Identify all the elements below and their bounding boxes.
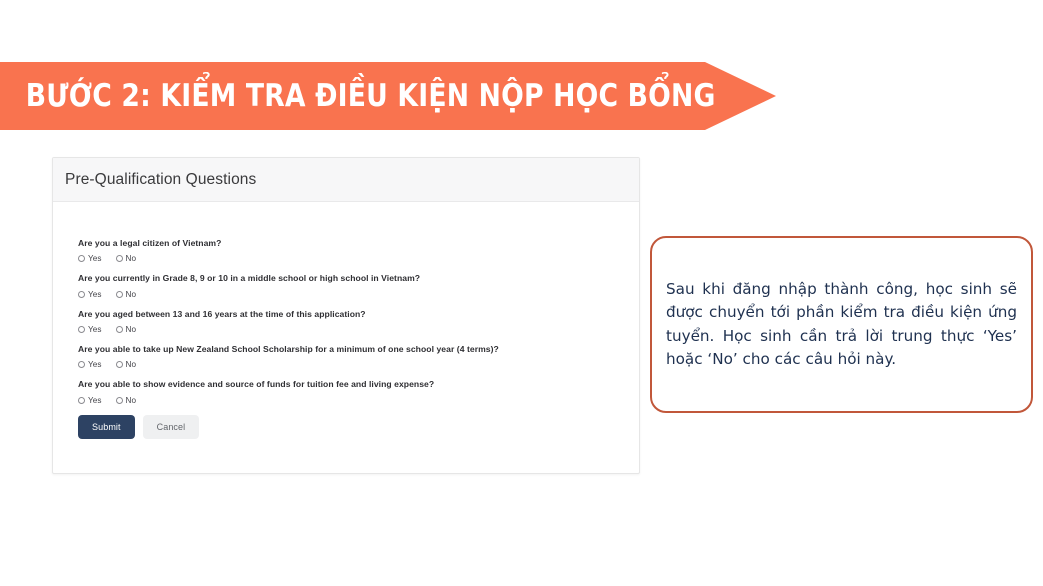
radio-group: Yes No <box>78 396 639 405</box>
radio-option-label: Yes <box>88 360 102 369</box>
radio-option-label: No <box>126 396 137 405</box>
radio-group: Yes No <box>78 254 639 263</box>
pre-qualification-card: Pre-Qualification Questions Are you a le… <box>52 157 640 474</box>
radio-option-yes[interactable]: Yes <box>78 325 102 334</box>
radio-option-yes[interactable]: Yes <box>78 396 102 405</box>
card-header: Pre-Qualification Questions <box>53 158 639 202</box>
question-label: Are you able to show evidence and source… <box>78 379 639 389</box>
radio-option-yes[interactable]: Yes <box>78 254 102 263</box>
radio-icon[interactable] <box>78 291 85 298</box>
radio-option-label: No <box>126 360 137 369</box>
radio-option-yes[interactable]: Yes <box>78 360 102 369</box>
radio-option-label: No <box>126 254 137 263</box>
question-label: Are you currently in Grade 8, 9 or 10 in… <box>78 273 639 283</box>
radio-option-yes[interactable]: Yes <box>78 290 102 299</box>
question-label: Are you aged between 13 and 16 years at … <box>78 309 639 319</box>
radio-icon[interactable] <box>78 361 85 368</box>
card-body: Are you a legal citizen of Vietnam? Yes … <box>53 202 639 439</box>
question-block: Are you aged between 13 and 16 years at … <box>78 309 639 334</box>
radio-icon[interactable] <box>78 255 85 262</box>
page-title: Pre-Qualification Questions <box>65 171 256 189</box>
step-banner-label: BƯỚC 2: KIỂM TRA ĐIỀU KIỆN NỘP HỌC BỔNG <box>0 81 716 112</box>
radio-icon[interactable] <box>116 361 123 368</box>
form-actions: Submit Cancel <box>78 415 639 439</box>
radio-option-label: Yes <box>88 254 102 263</box>
annotation-callout-text: Sau khi đăng nhập thành công, học sinh s… <box>666 278 1017 370</box>
question-block: Are you a legal citizen of Vietnam? Yes … <box>78 238 639 263</box>
radio-icon[interactable] <box>78 326 85 333</box>
radio-group: Yes No <box>78 325 639 334</box>
page-root: BƯỚC 2: KIỂM TRA ĐIỀU KIỆN NỘP HỌC BỔNG … <box>0 0 1043 586</box>
question-label: Are you able to take up New Zealand Scho… <box>78 344 639 354</box>
radio-icon[interactable] <box>116 255 123 262</box>
radio-option-no[interactable]: No <box>116 396 137 405</box>
radio-icon[interactable] <box>116 291 123 298</box>
step-banner: BƯỚC 2: KIỂM TRA ĐIỀU KIỆN NỘP HỌC BỔNG <box>0 62 776 130</box>
radio-option-label: No <box>126 290 137 299</box>
radio-option-label: Yes <box>88 325 102 334</box>
radio-option-label: Yes <box>88 396 102 405</box>
radio-group: Yes No <box>78 290 639 299</box>
radio-option-no[interactable]: No <box>116 360 137 369</box>
radio-icon[interactable] <box>116 397 123 404</box>
radio-option-label: No <box>126 325 137 334</box>
radio-icon[interactable] <box>78 397 85 404</box>
question-block: Are you currently in Grade 8, 9 or 10 in… <box>78 273 639 298</box>
radio-option-no[interactable]: No <box>116 254 137 263</box>
annotation-callout: Sau khi đăng nhập thành công, học sinh s… <box>650 236 1033 413</box>
cancel-button[interactable]: Cancel <box>143 415 200 439</box>
radio-option-no[interactable]: No <box>116 325 137 334</box>
radio-option-label: Yes <box>88 290 102 299</box>
question-label: Are you a legal citizen of Vietnam? <box>78 238 639 248</box>
submit-button[interactable]: Submit <box>78 415 135 439</box>
radio-icon[interactable] <box>116 326 123 333</box>
question-block: Are you able to show evidence and source… <box>78 379 639 404</box>
question-block: Are you able to take up New Zealand Scho… <box>78 344 639 369</box>
radio-group: Yes No <box>78 360 639 369</box>
radio-option-no[interactable]: No <box>116 290 137 299</box>
